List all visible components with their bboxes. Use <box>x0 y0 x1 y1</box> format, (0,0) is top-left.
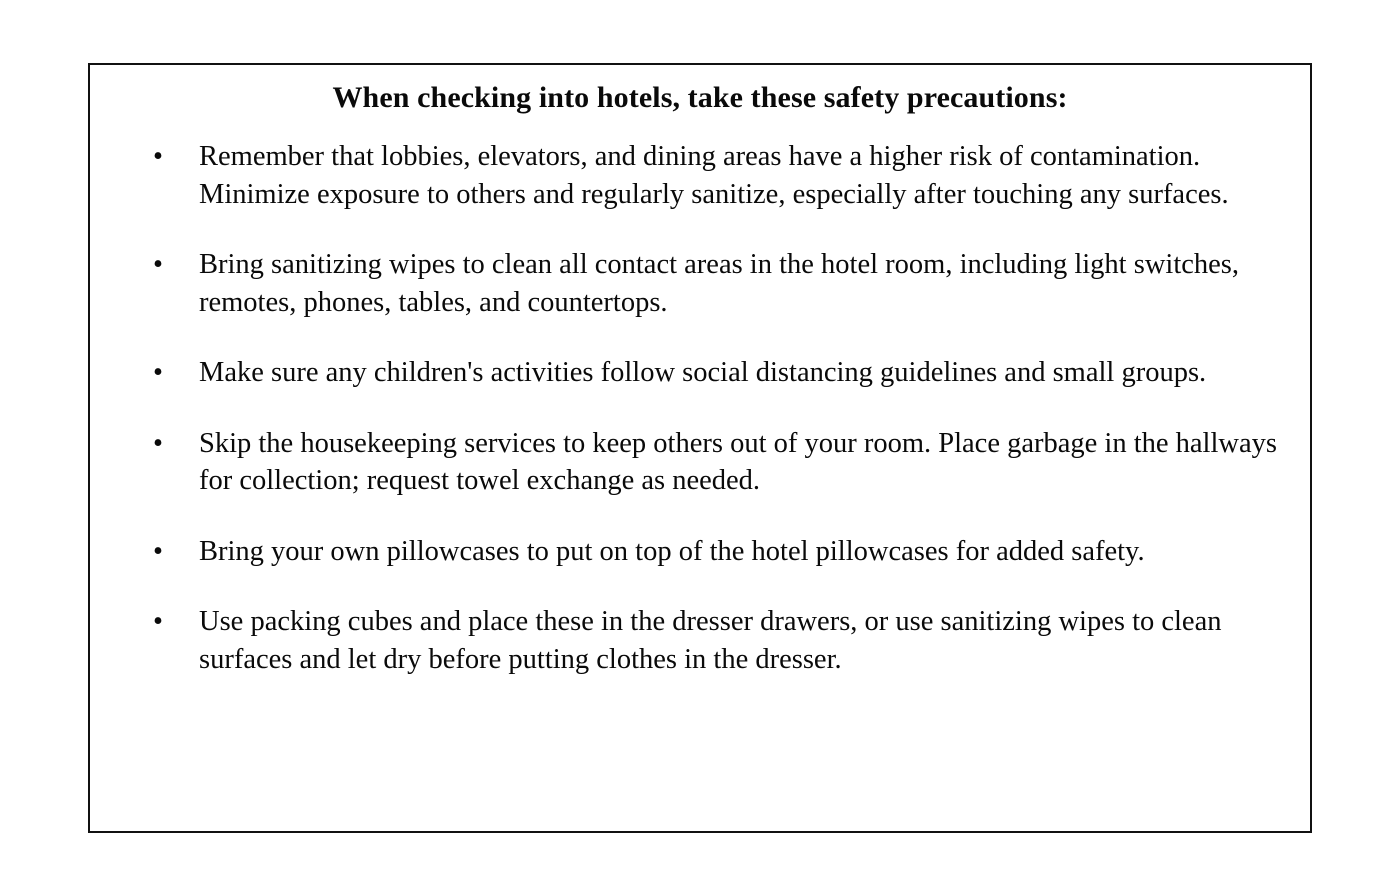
page-canvas: When checking into hotels, take these sa… <box>0 0 1400 886</box>
bullet-point-icon: • <box>153 603 167 641</box>
list-item: • Make sure any children's activities fo… <box>90 354 1310 392</box>
list-item-text: Skip the housekeeping services to keep o… <box>199 425 1298 500</box>
bullet-point-icon: • <box>153 354 167 392</box>
list-item-text: Bring sanitizing wipes to clean all cont… <box>199 246 1298 321</box>
list-item-text: Make sure any children's activities foll… <box>199 354 1298 392</box>
bullet-point-icon: • <box>153 246 167 284</box>
list-item-text: Use packing cubes and place these in the… <box>199 603 1298 678</box>
page-title: When checking into hotels, take these sa… <box>90 80 1310 116</box>
list-item-text: Remember that lobbies, elevators, and di… <box>199 138 1298 213</box>
safety-notice-box: When checking into hotels, take these sa… <box>88 63 1312 833</box>
list-item: • Bring your own pillowcases to put on t… <box>90 533 1310 571</box>
list-item-text: Bring your own pillowcases to put on top… <box>199 533 1298 571</box>
list-item: • Skip the housekeeping services to keep… <box>90 425 1310 500</box>
bullet-point-icon: • <box>153 138 167 176</box>
bullet-point-icon: • <box>153 533 167 571</box>
list-item: • Bring sanitizing wipes to clean all co… <box>90 246 1310 321</box>
safety-precautions-list: • Remember that lobbies, elevators, and … <box>90 138 1310 678</box>
list-item: • Remember that lobbies, elevators, and … <box>90 138 1310 213</box>
bullet-point-icon: • <box>153 425 167 463</box>
list-item: • Use packing cubes and place these in t… <box>90 603 1310 678</box>
